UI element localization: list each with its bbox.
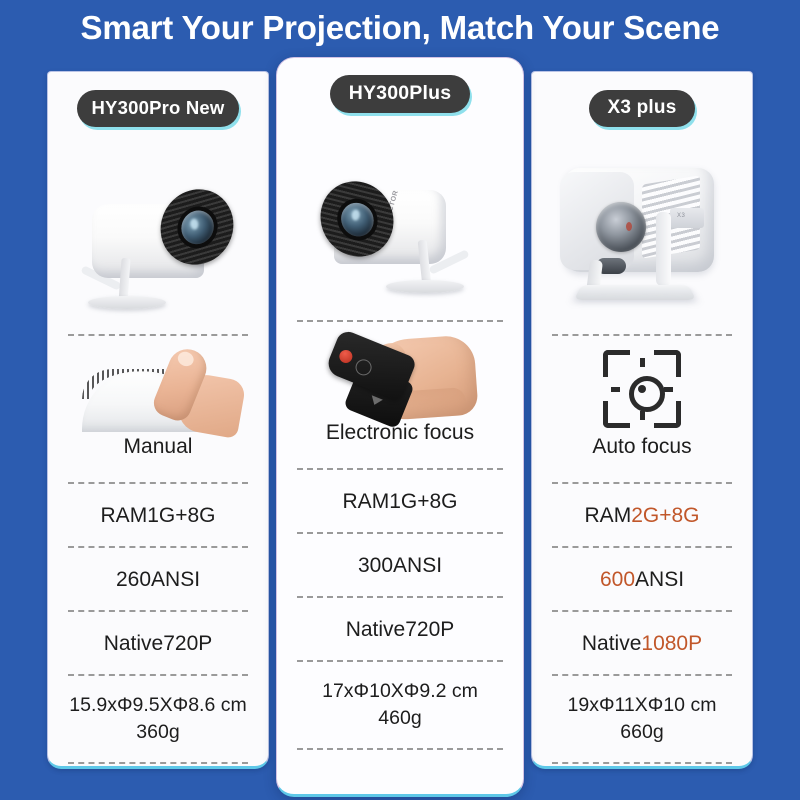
spec-ram: RAM 1G+8G xyxy=(277,470,523,532)
spec-brightness-suffix: ANSI xyxy=(393,552,442,579)
reticle-tick-left xyxy=(611,387,620,392)
column-tail xyxy=(277,750,523,794)
lens-red-reflection xyxy=(626,222,632,231)
reticle-center-dot xyxy=(638,385,646,393)
column-tail xyxy=(48,764,268,766)
projector-badge-plate: X3 xyxy=(670,208,704,228)
spec-resolution-prefix: Native xyxy=(104,630,164,657)
reticle-corner-bottom-left xyxy=(603,401,630,428)
product-column-x3-plus[interactable]: X3 plus X3 xyxy=(531,71,753,769)
spec-resolution-value: 1080P xyxy=(641,630,702,657)
focus-label: Electronic focus xyxy=(326,420,474,446)
projector-stand-yoke-right xyxy=(656,212,671,286)
spec-ram-prefix: RAM xyxy=(585,502,632,529)
spec-resolution: Native 720P xyxy=(277,598,523,660)
spec-dimensions: 17xΦ10XΦ9.2 cm xyxy=(322,678,478,705)
spec-resolution-value: 720P xyxy=(163,630,212,657)
spec-ram-prefix: RAM xyxy=(343,488,390,515)
spec-brightness-value: 300 xyxy=(358,552,393,579)
projector-stand-base xyxy=(386,280,464,293)
spec-resolution: Native 1080P xyxy=(532,612,752,674)
spec-brightness: 300 ANSI xyxy=(277,534,523,596)
spec-ram-value: 1G+8G xyxy=(147,502,215,529)
spec-brightness-value: 600 xyxy=(600,566,635,593)
spec-dimensions-weight: 15.9xΦ9.5XΦ8.6 cm 360g xyxy=(48,676,268,762)
comparison-poster: Smart Your Projection, Match Your Scene … xyxy=(0,0,800,800)
product-column-hy300pro-new[interactable]: HY300Pro New xyxy=(47,71,269,769)
autofocus-reticle-icon xyxy=(552,342,732,434)
spec-ram: RAM 1G+8G xyxy=(48,484,268,546)
product-name-badge-row: HY300Pro New xyxy=(48,72,268,144)
product-column-hy300plus[interactable]: HY300Plus PROJECTOR xyxy=(276,57,524,797)
remote-power-button xyxy=(337,348,354,365)
focus-label: Auto focus xyxy=(592,434,691,460)
remote-down-arrow-icon xyxy=(369,395,383,407)
column-tail xyxy=(532,764,752,766)
product-name-badge: HY300Pro New xyxy=(77,90,240,127)
spec-brightness: 260 ANSI xyxy=(48,548,268,610)
spec-resolution-prefix: Native xyxy=(582,630,642,657)
projector-stand-base xyxy=(88,296,166,309)
spec-ram: RAM 2G+8G xyxy=(532,484,752,546)
reticle-tick-bottom xyxy=(640,411,645,420)
remote-nav-ring xyxy=(353,357,374,378)
lens-glint xyxy=(351,209,361,222)
focus-cell: Auto focus xyxy=(532,336,752,482)
spec-brightness-value: 260 xyxy=(116,566,151,593)
projector-plate-label: X3 xyxy=(677,213,685,219)
product-image-hy300pro-new xyxy=(48,144,268,334)
manual-focus-hand-icon xyxy=(68,342,248,434)
spec-resolution-value: 720P xyxy=(405,616,454,643)
spec-brightness: 600 ANSI xyxy=(532,548,752,610)
spec-weight: 360g xyxy=(136,719,179,746)
remote-control-hand-icon xyxy=(310,328,490,420)
spec-resolution: Native 720P xyxy=(48,612,268,674)
product-name-badge-row: HY300Plus xyxy=(277,58,523,130)
spec-dimensions: 15.9xΦ9.5XΦ8.6 cm xyxy=(69,692,246,719)
product-image-x3-plus: X3 xyxy=(532,144,752,334)
spec-dimensions-weight: 17xΦ10XΦ9.2 cm 460g xyxy=(277,662,523,748)
reticle-corner-top-left xyxy=(603,350,630,377)
focus-label: Manual xyxy=(124,434,193,460)
page-title: Smart Your Projection, Match Your Scene xyxy=(0,8,800,48)
spec-ram-value: 1G+8G xyxy=(389,488,457,515)
focus-cell: Manual xyxy=(48,336,268,482)
product-image-hy300plus: PROJECTOR xyxy=(277,130,523,320)
reticle-corner-top-right xyxy=(654,350,681,377)
comparison-columns: HY300Pro New xyxy=(47,57,753,767)
projector-lens-glass xyxy=(178,207,217,248)
product-name-badge-row: X3 plus xyxy=(532,72,752,144)
spec-ram-prefix: RAM xyxy=(101,502,148,529)
reticle-ring xyxy=(629,376,665,412)
reticle-tick-top xyxy=(640,358,645,367)
spec-brightness-suffix: ANSI xyxy=(635,566,684,593)
spec-weight: 660g xyxy=(620,719,663,746)
lens-glint xyxy=(189,218,199,231)
projector-lens xyxy=(596,202,646,252)
reticle-tick-right xyxy=(664,387,673,392)
spec-dimensions: 19xΦ11XΦ10 cm xyxy=(568,692,717,719)
spec-weight: 460g xyxy=(378,705,421,732)
focus-cell: Electronic focus xyxy=(277,322,523,468)
product-name-badge: X3 plus xyxy=(589,90,696,127)
spec-brightness-suffix: ANSI xyxy=(151,566,200,593)
spec-ram-value: 2G+8G xyxy=(631,502,699,529)
spec-resolution-prefix: Native xyxy=(346,616,406,643)
product-name-badge: HY300Plus xyxy=(330,75,471,113)
projector-stand-base xyxy=(574,285,696,300)
projector-front-face xyxy=(560,172,634,270)
spec-dimensions-weight: 19xΦ11XΦ10 cm 660g xyxy=(532,676,752,762)
projector-lens-glass xyxy=(339,199,377,240)
